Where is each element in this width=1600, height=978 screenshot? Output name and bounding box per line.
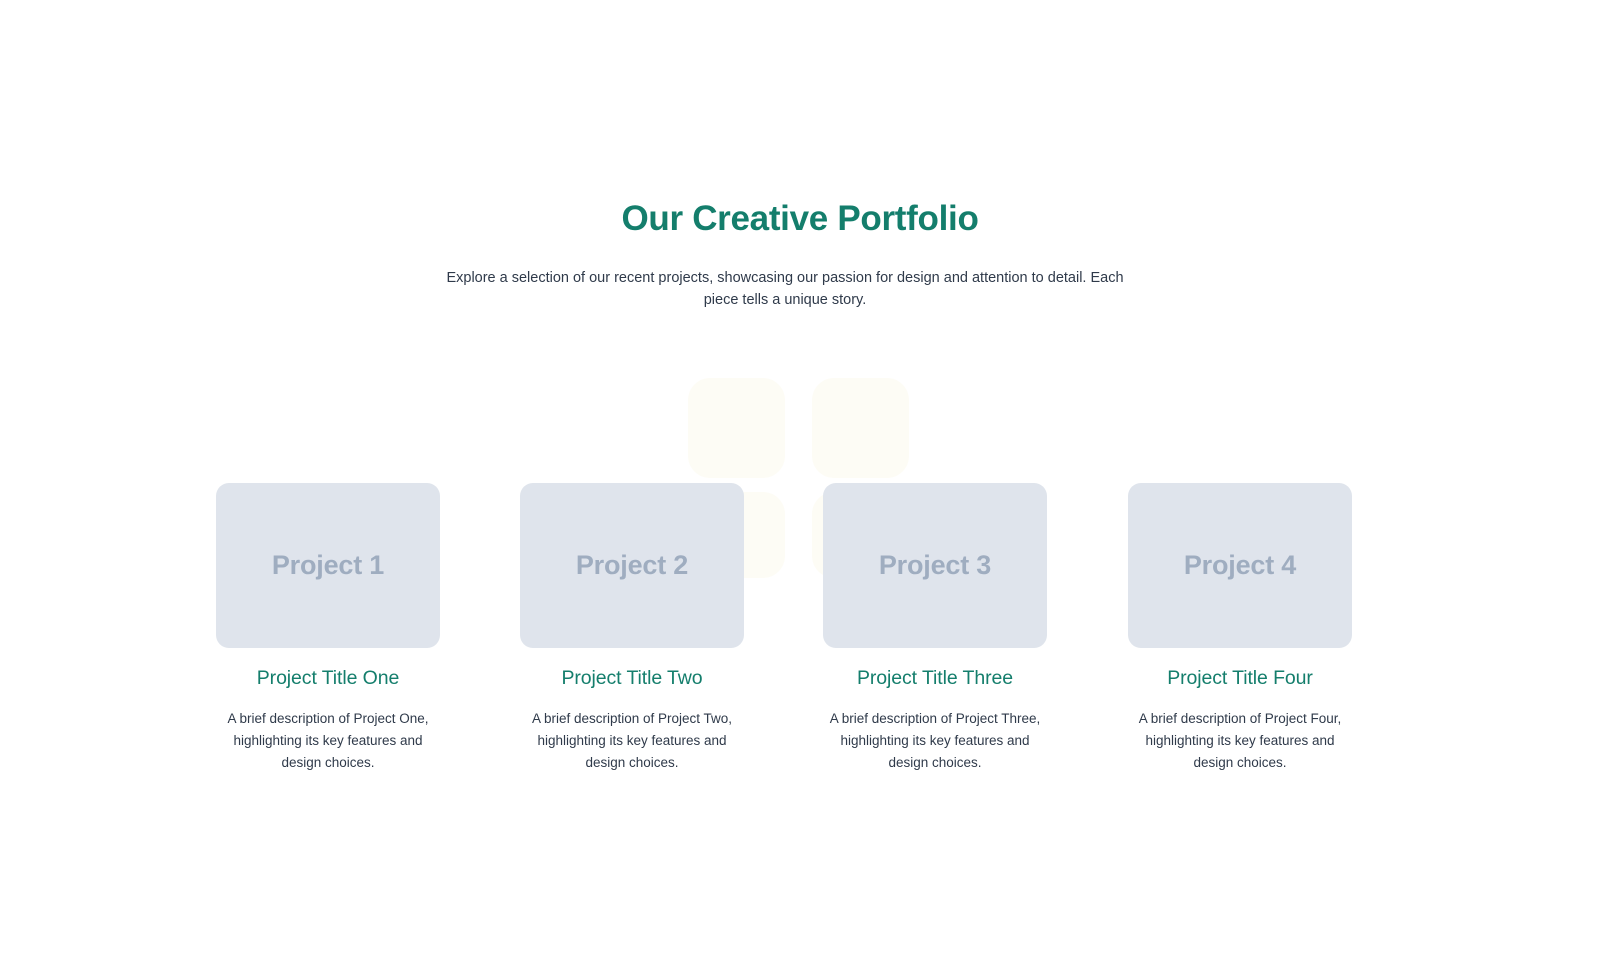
project-title[interactable]: Project Title Four	[1128, 665, 1352, 691]
project-card[interactable]: Project 2 Project Title Two A brief desc…	[520, 483, 744, 774]
portfolio-page: Our Creative Portfolio Explore a selecti…	[0, 0, 1600, 978]
project-thumbnail-label: Project 4	[1184, 550, 1296, 581]
project-grid: Project 1 Project Title One A brief desc…	[0, 0, 1600, 978]
project-description: A brief description of Project One, high…	[216, 708, 440, 774]
project-card[interactable]: Project 4 Project Title Four A brief des…	[1128, 483, 1352, 774]
project-thumbnail[interactable]: Project 4	[1128, 483, 1352, 648]
project-thumbnail[interactable]: Project 2	[520, 483, 744, 648]
project-card[interactable]: Project 3 Project Title Three A brief de…	[823, 483, 1047, 774]
project-thumbnail[interactable]: Project 3	[823, 483, 1047, 648]
project-title[interactable]: Project Title Two	[520, 665, 744, 691]
project-thumbnail-label: Project 1	[272, 550, 384, 581]
project-thumbnail[interactable]: Project 1	[216, 483, 440, 648]
project-title[interactable]: Project Title One	[216, 665, 440, 691]
project-thumbnail-label: Project 2	[576, 550, 688, 581]
project-description: A brief description of Project Three, hi…	[823, 708, 1047, 774]
project-thumbnail-label: Project 3	[879, 550, 991, 581]
project-description: A brief description of Project Four, hig…	[1128, 708, 1352, 774]
project-card[interactable]: Project 1 Project Title One A brief desc…	[216, 483, 440, 774]
project-description: A brief description of Project Two, high…	[520, 708, 744, 774]
project-title[interactable]: Project Title Three	[823, 665, 1047, 691]
